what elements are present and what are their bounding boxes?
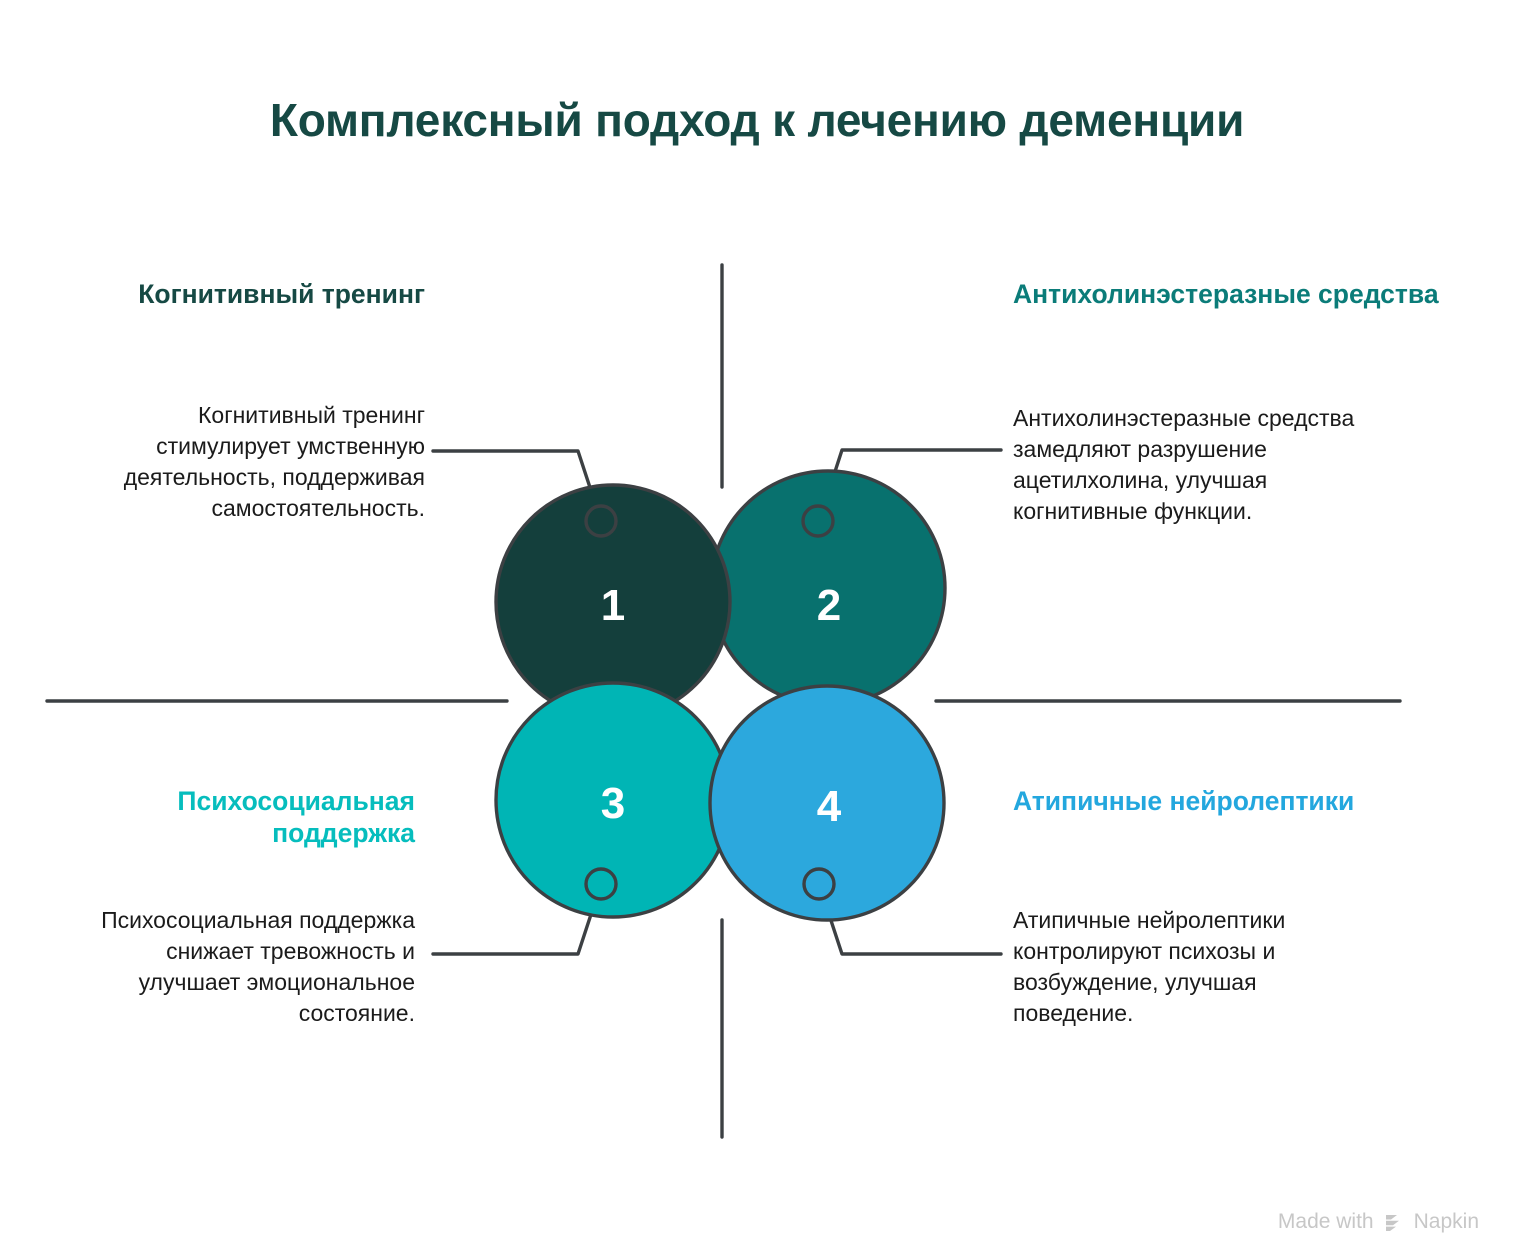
quadrant-2-description: Антихолинэстеразные средства замедляют р… <box>1013 403 1358 527</box>
napkin-chevrons-icon <box>1383 1211 1405 1233</box>
quadrant-2-heading: Антихолинэстеразные средства <box>1013 278 1463 310</box>
watermark-prefix: Made with <box>1278 1210 1374 1234</box>
venn-circle-label-4: 4 <box>817 782 842 831</box>
quadrant-1-description: Когнитивный тренинг стимулирует умственн… <box>60 400 425 524</box>
venn-circle-label-2: 2 <box>817 581 841 630</box>
diagram-vector-layer: 1 2 3 4 <box>0 0 1514 1256</box>
quadrant-3-heading: Психосоциальная поддержка <box>60 785 415 850</box>
venn-circle-label-1: 1 <box>601 581 625 630</box>
watermark: Made with Napkin <box>1278 1210 1479 1234</box>
quadrant-1-heading: Когнитивный тренинг <box>95 278 425 310</box>
diagram-canvas: Комплексный подход к лечению деменции 1 <box>0 0 1514 1256</box>
venn-circle-label-3: 3 <box>601 779 625 828</box>
quadrant-4-heading: Атипичные нейролептики <box>1013 785 1413 817</box>
quadrant-4-description: Атипичные нейролептики контролируют псих… <box>1013 905 1358 1029</box>
quadrant-3-description: Психосоциальная поддержка снижает тревож… <box>60 905 415 1029</box>
watermark-brand: Napkin <box>1414 1210 1479 1234</box>
